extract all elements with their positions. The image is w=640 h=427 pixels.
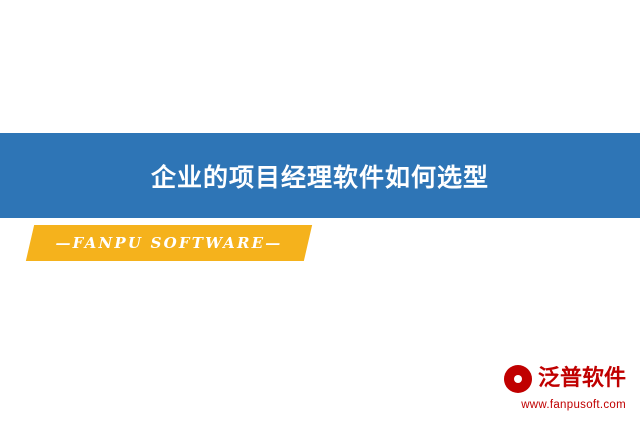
logo-row: 泛普软件 [466,362,626,396]
slide-subtitle: —FANPU SOFTWARE— [30,225,308,261]
logo-url: www.fanpusoft.com [466,399,626,411]
brand-logo: 泛普软件 www.fanpusoft.com [466,362,626,414]
logo-name: 泛普软件 [538,368,626,390]
slide-title: 企业的项目经理软件如何选型 [0,133,640,218]
slide-canvas: 企业的项目经理软件如何选型 —FANPU SOFTWARE— 泛普软件 www.… [0,0,640,427]
fanpu-logo-icon [503,364,533,394]
